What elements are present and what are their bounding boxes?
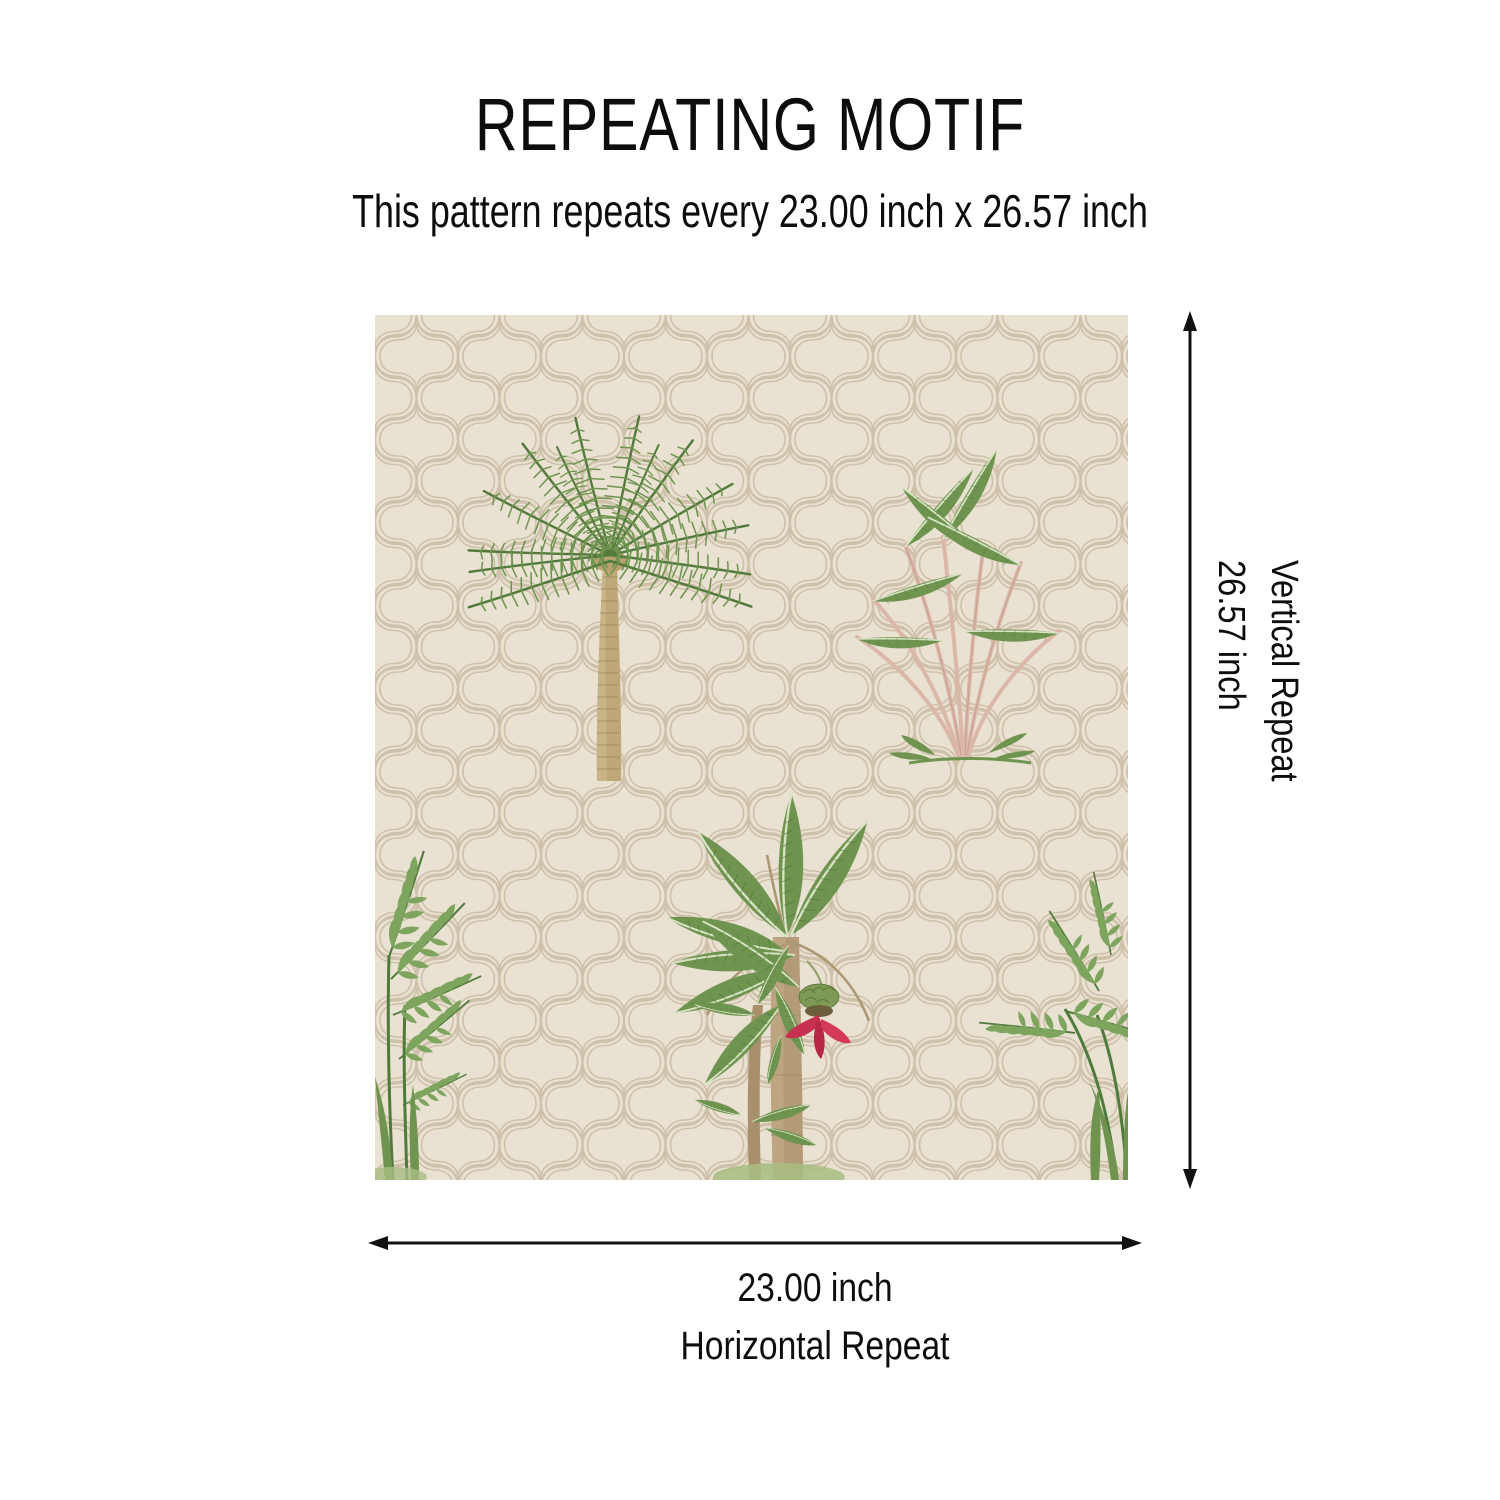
page-subtitle: This pattern repeats every 23.00 inch x … bbox=[165, 188, 1335, 234]
horizontal-repeat-value: 23.00 inch bbox=[240, 1268, 1391, 1308]
wallpaper-swatch bbox=[375, 315, 1128, 1180]
horizontal-repeat-label-text: Horizontal Repeat bbox=[240, 1326, 1391, 1366]
vertical-repeat-label: Vertical Repeat 26.57 inch bbox=[1205, 560, 1335, 960]
header: REPEATING MOTIF This pattern repeats eve… bbox=[0, 0, 1500, 234]
vertical-repeat-value: 26.57 inch bbox=[1212, 560, 1250, 711]
horizontal-repeat-label: 23.00 inch Horizontal Repeat bbox=[0, 1268, 1500, 1384]
vertical-repeat-label-text: Vertical Repeat bbox=[1265, 560, 1303, 782]
wallpaper-swatch-image bbox=[375, 315, 1128, 1180]
page-title: REPEATING MOTIF bbox=[150, 88, 1350, 162]
